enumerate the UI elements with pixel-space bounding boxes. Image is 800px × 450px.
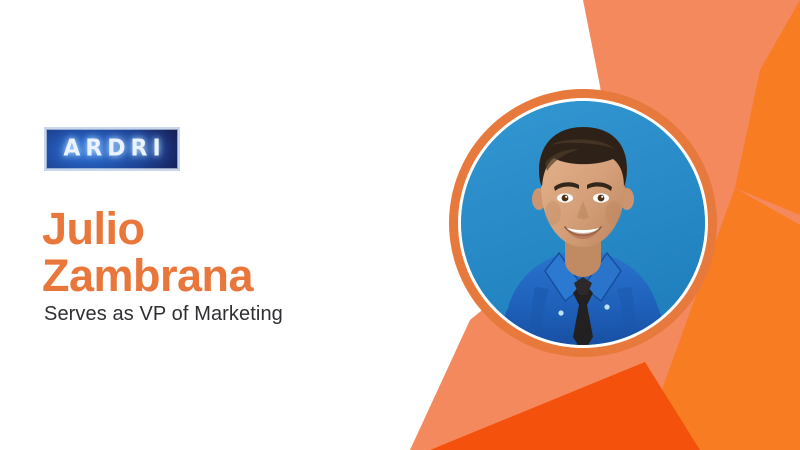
- text-column: ARDRI Julio Zambrana Serves as VP of Mar…: [0, 0, 430, 450]
- person-role: Serves as VP of Marketing: [44, 302, 414, 326]
- brand-logo-badge[interactable]: ARDRI: [44, 127, 180, 171]
- portrait-illustration: [461, 101, 705, 345]
- brand-logo-wordmark: ARDRI: [58, 137, 165, 160]
- portrait: [449, 89, 717, 357]
- person-name: Julio Zambrana: [42, 206, 402, 300]
- portrait-photo: [461, 101, 705, 345]
- announcement-card: ARDRI Julio Zambrana Serves as VP of Mar…: [0, 0, 800, 450]
